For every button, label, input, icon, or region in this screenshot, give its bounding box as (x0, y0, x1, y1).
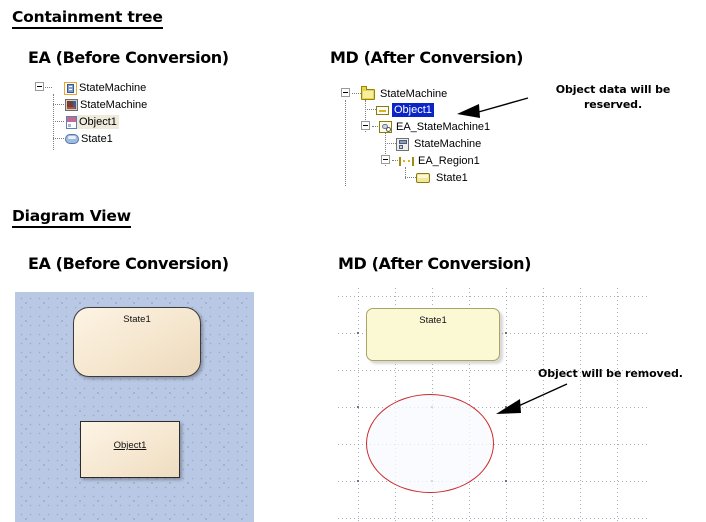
tree-expander-statemachine-folder[interactable] (341, 88, 350, 97)
tree-item-statemachine-root[interactable]: StateMachine (64, 80, 148, 96)
tree-connector-horizontal (405, 177, 416, 178)
statemachine-package-icon (64, 82, 77, 95)
md-state-icon (416, 173, 430, 183)
tree-item-object1[interactable]: Object1 (66, 114, 119, 130)
tree-item-state1[interactable]: State1 (416, 170, 470, 186)
tree-connector-horizontal (352, 93, 361, 94)
md-removed-object-ellipse[interactable] (366, 394, 494, 493)
annotation-object-data-reserved: Object data will be reserved. (524, 82, 702, 112)
tree-connector-horizontal (53, 138, 64, 139)
tree-connector-vertical (345, 100, 346, 186)
tree-item-label: EA_StateMachine1 (394, 120, 492, 134)
tree-item-state1[interactable]: State1 (65, 131, 115, 147)
tree-item-label: State1 (434, 171, 470, 185)
tree-item-label: StateMachine (78, 98, 149, 112)
panel-heading-md-tree: MD (After Conversion) (330, 48, 523, 67)
md-statemachine-icon (379, 121, 392, 133)
tree-connector-horizontal (53, 104, 64, 105)
tree-connector-horizontal (385, 143, 396, 144)
tree-connector-horizontal (365, 109, 376, 110)
tree-expander-ea-statemachine1[interactable] (361, 121, 370, 130)
tree-item-object1[interactable]: Object1 (376, 102, 434, 118)
panel-heading-ea-diagram: EA (Before Conversion) (28, 254, 229, 273)
ea-containment-tree[interactable]: StateMachine StateMachine Object1 State1 (34, 80, 214, 154)
ea-state1-shape[interactable]: State1 (73, 307, 201, 377)
tree-item-statemachine-diagram[interactable]: StateMachine (65, 97, 149, 113)
ea-object1-shape[interactable]: Object1 (80, 421, 180, 478)
tree-item-label: StateMachine (77, 81, 148, 95)
tree-item-label: State1 (79, 132, 115, 146)
state-icon (65, 134, 79, 144)
object-icon (66, 116, 77, 129)
diagram-icon (65, 99, 78, 111)
tree-item-label: EA_Region1 (416, 154, 482, 168)
folder-icon (361, 89, 375, 100)
ea-diagram-canvas[interactable]: State1 Object1 (15, 292, 254, 522)
tree-item-ea-region1[interactable]: EA_Region1 (399, 153, 482, 169)
tree-item-label: Object1 (77, 115, 119, 129)
tree-expander-ea-region1[interactable] (381, 155, 390, 164)
ea-state1-label: State1 (74, 314, 200, 325)
panel-heading-ea-tree: EA (Before Conversion) (28, 48, 229, 67)
ea-object1-label: Object1 (81, 440, 179, 451)
tree-connector-vertical (53, 94, 54, 150)
annotation-object-removed: Object will be removed. (538, 366, 706, 381)
md-state1-label: State1 (367, 315, 499, 326)
md-diagram-icon (396, 138, 409, 151)
tree-item-statemachine-folder[interactable]: StateMachine (361, 86, 449, 102)
section-heading-containment-tree: Containment tree (12, 8, 163, 29)
tree-expander-statemachine[interactable] (35, 82, 44, 91)
tree-connector-horizontal (53, 121, 64, 122)
md-region-icon (399, 157, 414, 166)
tree-item-label: Object1 (392, 103, 434, 117)
tree-item-label: StateMachine (412, 137, 483, 151)
panel-heading-md-diagram: MD (After Conversion) (338, 254, 531, 273)
section-heading-diagram-view: Diagram View (12, 207, 131, 228)
md-object-icon (376, 106, 389, 115)
tree-item-label: StateMachine (378, 87, 449, 101)
annotation-arrow-tree (455, 96, 531, 122)
tree-item-statemachine-diagram[interactable]: StateMachine (396, 136, 483, 152)
md-state1-shape[interactable]: State1 (366, 308, 500, 361)
annotation-arrow-diagram (490, 382, 570, 420)
